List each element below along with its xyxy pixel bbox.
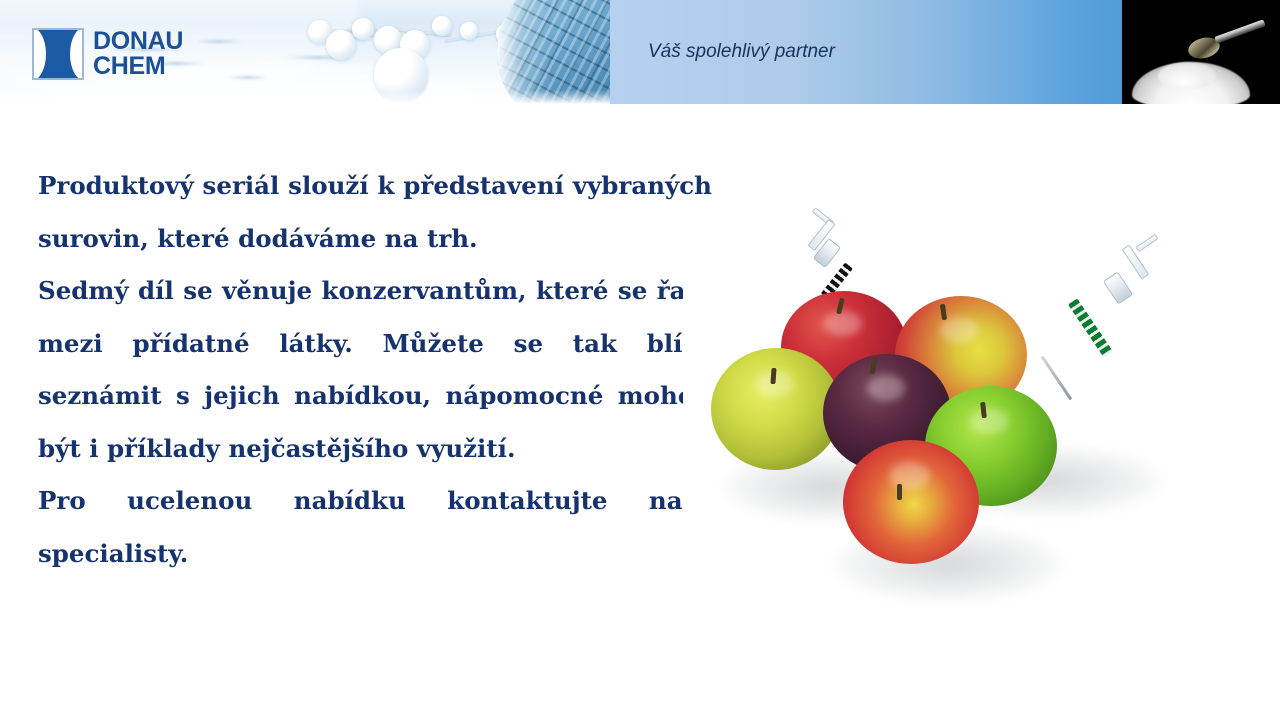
donau-chem-logo[interactable]: DONAU CHEM <box>32 28 183 80</box>
apple-stem <box>897 484 902 500</box>
banner-streak-decor <box>228 76 268 79</box>
page-header: DONAU CHEM Váš spolehlivý partner <box>0 0 1280 104</box>
apple-red-bottom <box>843 440 979 564</box>
powder-pile-highlight <box>1158 62 1216 90</box>
logo-wordmark: DONAU CHEM <box>93 30 183 79</box>
powder-scoop-photo <box>1122 0 1280 104</box>
logo-line-1: DONAU <box>93 30 183 54</box>
apple-yellow-green-left <box>711 348 841 470</box>
paragraph-2: Sedmý díl se věnuje konzervantům, které … <box>38 265 712 475</box>
paragraph-3: Pro ucelenou nabídku kontaktujte naše sp… <box>38 475 712 580</box>
syringe-plunger <box>1122 245 1150 280</box>
scoop-handle <box>1214 19 1265 43</box>
paragraph-1: Produktový seriál slouží k představení v… <box>38 160 712 265</box>
syringe-flange <box>1135 234 1158 252</box>
molecule-atom <box>432 16 452 36</box>
molecule-atom-large <box>374 48 428 102</box>
molecule-atom <box>460 22 478 40</box>
molecule-atom <box>352 18 374 40</box>
header-tagline-band: Váš spolehlivý partner <box>610 0 1122 104</box>
syringe-barrel <box>1103 271 1134 304</box>
tagline-text: Váš spolehlivý partner <box>648 41 835 63</box>
apples-with-syringes-photo <box>683 196 1280 620</box>
syringe-needle <box>1041 356 1073 401</box>
syringe-fluid <box>1068 298 1113 357</box>
glass-building-photo <box>497 0 610 104</box>
header-left-banner: DONAU CHEM <box>0 0 610 104</box>
banner-streak-decor <box>196 40 242 43</box>
molecule-atom <box>326 30 356 60</box>
body-text-block: Produktový seriál slouží k představení v… <box>38 160 712 580</box>
logo-line-2: CHEM <box>93 55 183 79</box>
hourglass-icon <box>32 28 84 80</box>
